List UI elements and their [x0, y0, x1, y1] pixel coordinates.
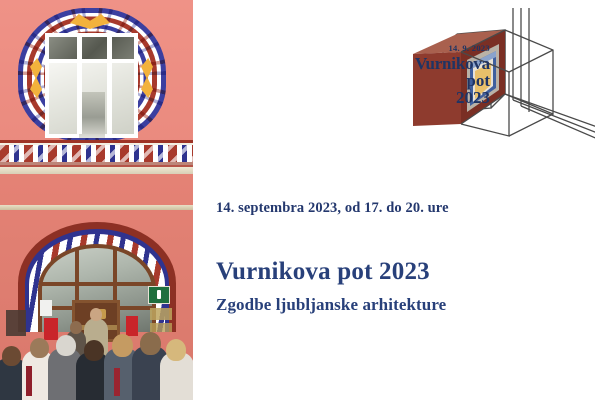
event-date-time: 14. septembra 2023, od 17. do 20. ure	[216, 200, 586, 217]
facade-ledge-lower	[0, 205, 193, 210]
poster-root: 14. 9. 2023 Vurnikova pot 2023 14. septe…	[0, 0, 600, 400]
event-logo: 14. 9. 2023 Vurnikova pot 2023	[395, 8, 595, 158]
event-title: Vurnikova pot 2023	[216, 258, 586, 286]
door-notice-red-right	[126, 316, 138, 336]
building-photograph	[0, 0, 193, 400]
exit-sign-icon	[148, 286, 170, 304]
main-text-block: 14. septembra 2023, od 17. do 20. ure Vu…	[216, 200, 586, 315]
event-subtitle: Zgodbe ljubljanske arhitekture	[216, 295, 586, 315]
wall-plaque-dark	[6, 310, 26, 336]
door-notice-white	[40, 300, 52, 316]
logo-text-block: 14. 9. 2023 Vurnikova pot 2023	[415, 44, 490, 107]
wall-plaque-brass-lower	[150, 323, 172, 332]
logo-date: 14. 9. 2023	[415, 44, 490, 53]
logo-line-1: Vurnikova	[415, 55, 490, 72]
facade-window	[45, 33, 138, 138]
facade-ledge-upper	[0, 167, 193, 174]
logo-line-3: 2023	[415, 89, 490, 106]
logo-line-2: pot	[415, 72, 490, 89]
wall-plaque-brass-upper	[150, 308, 172, 320]
crowd-of-visitors	[0, 334, 193, 400]
